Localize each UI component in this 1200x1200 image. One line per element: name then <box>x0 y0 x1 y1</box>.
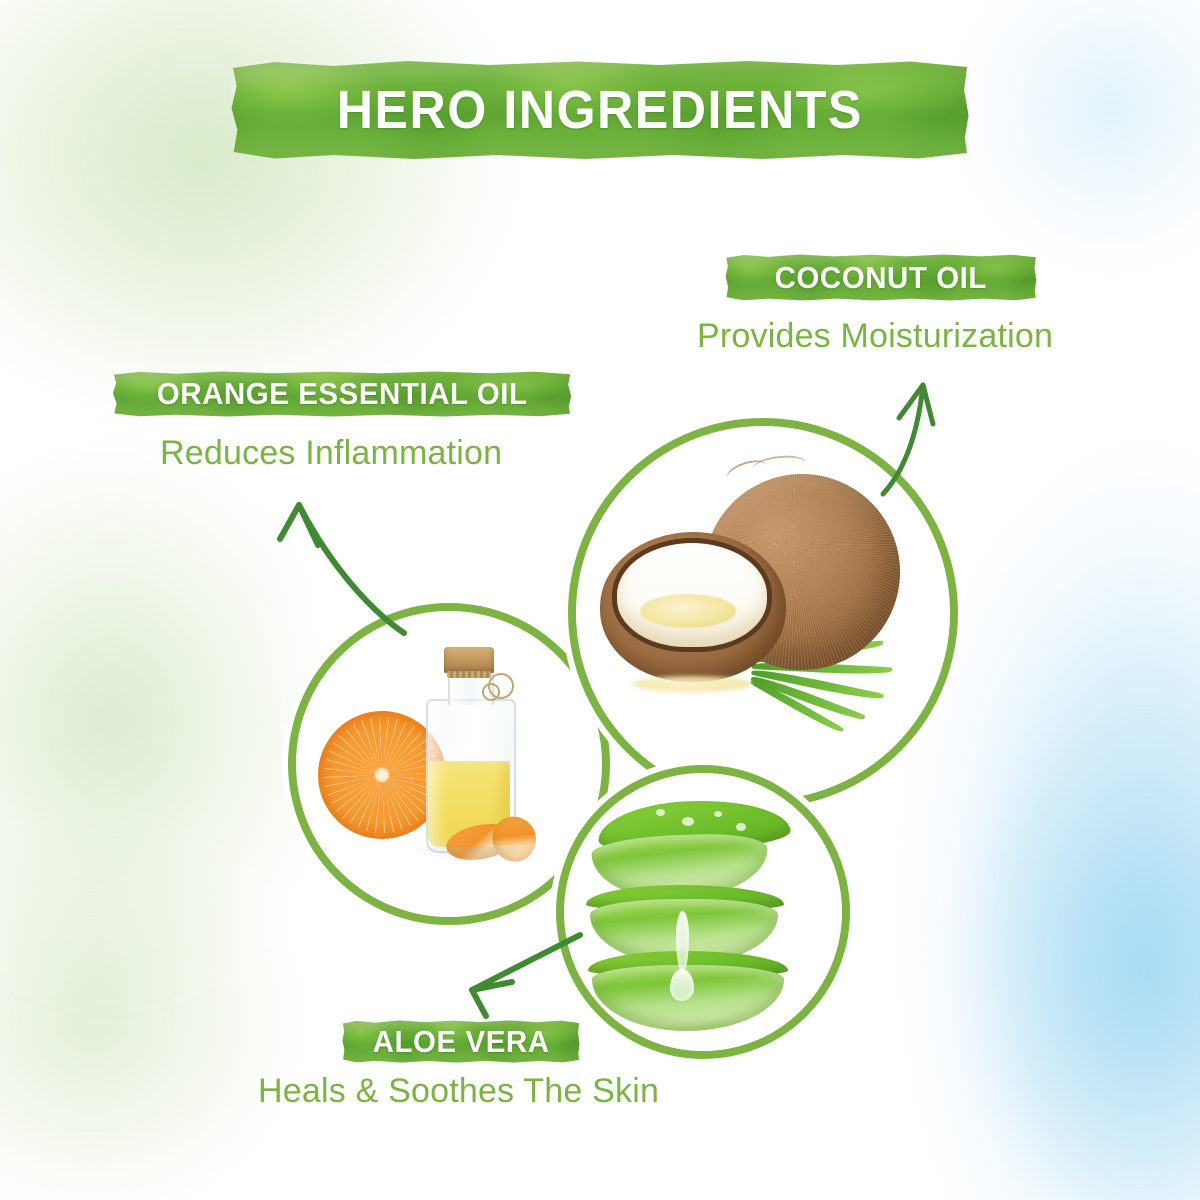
aloe-vera-label: ALOE VERA <box>373 1024 550 1060</box>
infographic-canvas: HERO INGREDIENTS <box>0 0 1200 1200</box>
aloe-vera-photo-circle <box>556 765 850 1059</box>
orange-essential-oil-label: ORANGE ESSENTIAL OIL <box>157 376 528 412</box>
coconut-oil-benefit: Provides Moisturization <box>697 317 1053 356</box>
orange-essential-oil-benefit: Reduces Inflammation <box>160 434 502 473</box>
coconut-oil-label: COCONUT OIL <box>775 260 987 296</box>
page-title-banner: HERO INGREDIENTS <box>230 60 970 160</box>
orange-oil-photo <box>296 611 602 917</box>
aloe-vera-benefit: Heals & Soothes The Skin <box>258 1072 659 1111</box>
aloe-vera-photo <box>564 773 842 1051</box>
coconut-oil-label-banner: COCONUT OIL <box>725 254 1037 301</box>
page-title: HERO INGREDIENTS <box>337 79 863 141</box>
aloe-vera-label-banner: ALOE VERA <box>342 1020 580 1063</box>
orange-essential-oil-label-banner: ORANGE ESSENTIAL OIL <box>112 371 572 417</box>
coconut-photo-circle <box>568 418 958 808</box>
coconut-photo <box>576 426 950 800</box>
curved-arrow-up-left-icon <box>280 505 404 633</box>
